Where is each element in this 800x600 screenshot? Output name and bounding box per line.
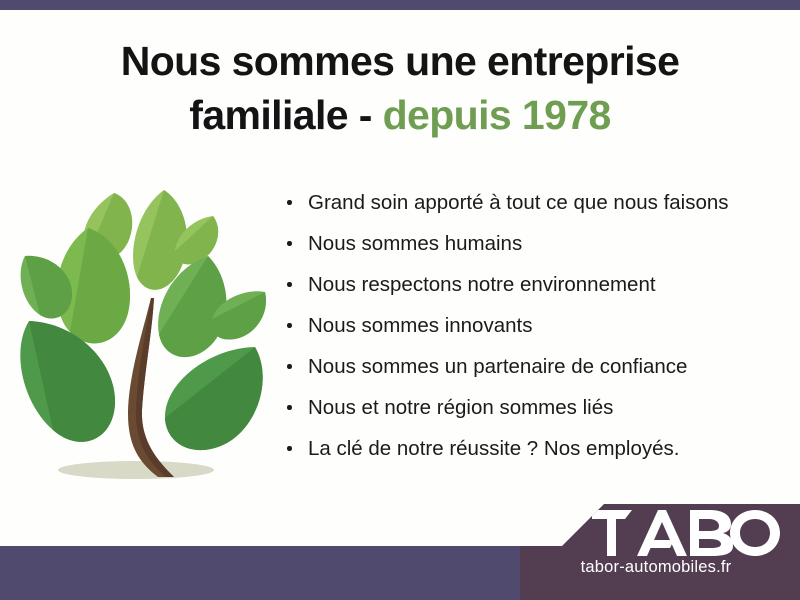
list-item-label: Nous sommes humains	[308, 232, 522, 255]
tabor-wordmark-logo	[592, 510, 782, 556]
page-title: Nous sommes une entreprise familiale - d…	[0, 34, 800, 142]
list-item-label: Nous sommes un partenaire de confiance	[308, 355, 687, 378]
bullet-dot-icon	[287, 323, 292, 328]
bullet-dot-icon	[287, 446, 292, 451]
list-item: Nous et notre région sommes liés	[284, 397, 784, 420]
tree-illustration	[18, 182, 274, 492]
bullet-dot-icon	[287, 241, 292, 246]
tree-shadow-ellipse	[58, 461, 214, 479]
slide-root: Nous sommes une entreprise familiale - d…	[0, 0, 800, 600]
bullet-dot-icon	[287, 364, 292, 369]
leaf-lower-right	[165, 347, 263, 450]
list-item: Nous sommes innovants	[284, 315, 784, 338]
list-item-label: Nous respectons notre environnement	[308, 273, 656, 296]
list-item-label: Grand soin apporté à tout ce que nous fa…	[308, 191, 729, 214]
list-item: Grand soin apporté à tout ce que nous fa…	[284, 192, 784, 215]
bullet-dot-icon	[287, 282, 292, 287]
list-item: Nous sommes un partenaire de confiance	[284, 356, 784, 379]
headline-line-2-accent: depuis 1978	[383, 92, 611, 138]
list-item: Nous sommes humains	[284, 233, 784, 256]
value-proposition-list: Grand soin apporté à tout ce que nous fa…	[284, 192, 784, 479]
list-item-label: La clé de notre réussite ? Nos employés.	[308, 437, 679, 460]
bullet-dot-icon	[287, 405, 292, 410]
headline-line-2-plain: familiale -	[189, 92, 382, 138]
list-item: Nous respectons notre environnement	[284, 274, 784, 297]
brand-website-url[interactable]: tabor-automobiles.fr	[520, 558, 800, 577]
headline-line-1: Nous sommes une entreprise	[121, 38, 680, 84]
list-item-label: Nous et notre région sommes liés	[308, 396, 613, 419]
brand-logo-inner: tabor-automobiles.fr	[520, 504, 800, 600]
list-item-label: Nous sommes innovants	[308, 314, 532, 337]
brand-logo-panel[interactable]: tabor-automobiles.fr	[520, 504, 800, 600]
list-item: La clé de notre réussite ? Nos employés.	[284, 438, 784, 461]
bullet-dot-icon	[287, 200, 292, 205]
top-accent-band	[0, 0, 800, 10]
